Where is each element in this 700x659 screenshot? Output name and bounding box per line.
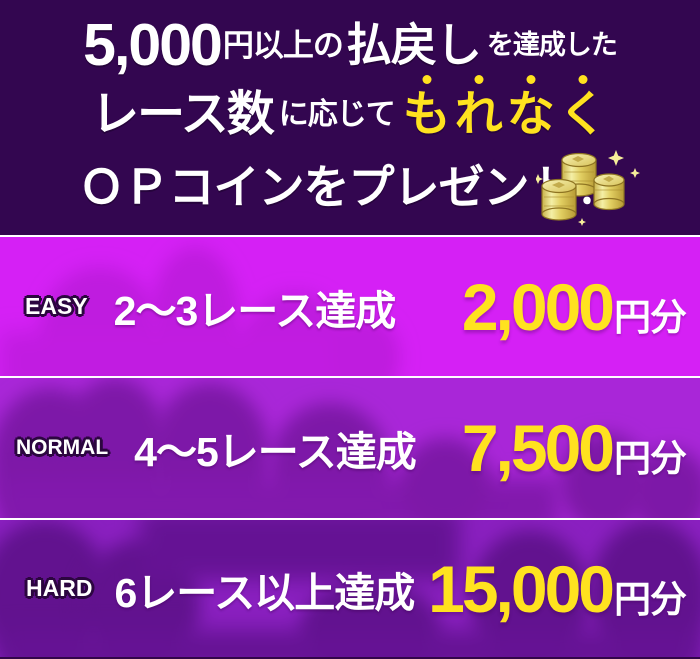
tier-amount-unit-easy: 円分: [612, 297, 686, 338]
tier-amount-value-hard: 15,000: [428, 552, 612, 626]
tier-amount-value-normal: 7,500: [462, 411, 612, 485]
banner-header: 5,000 円以上の 払戻し を達成した レース数 に応じて もれなく ＯＰコイ…: [0, 0, 700, 235]
tier-amount-value-easy: 2,000: [462, 270, 612, 344]
tier-amount-normal: 7,500円分: [416, 415, 700, 481]
emphasis-char: な: [505, 91, 557, 139]
tier-condition-hard: 6レース以上達成: [114, 559, 414, 619]
coin-stacks-svg: [536, 148, 646, 230]
campaign-banner: 5,000 円以上の 払戻し を達成した レース数 に応じて もれなく ＯＰコイ…: [0, 0, 700, 659]
payout-amount-text: 5,000: [83, 16, 221, 75]
tier-row-easy-content: EASY 2〜3レース達成 2,000円分: [0, 237, 700, 376]
tier-amount-unit-hard: 円分: [612, 579, 686, 620]
emphasis-char: れ: [453, 91, 505, 139]
payout-tail-text: を達成した: [484, 32, 617, 59]
header-line-2: レース数 に応じて もれなく: [91, 84, 609, 146]
according-to-text: に応じて: [273, 100, 401, 130]
tier-badge-easy: EASY: [25, 293, 88, 320]
race-count-text: レース数: [91, 91, 273, 139]
tier-condition-easy: 2〜3レース達成: [114, 277, 396, 337]
emphasis-char: も: [401, 91, 453, 139]
gold-coin-stacks-icon: [536, 148, 646, 230]
tier-row-normal-content: NORMAL 4〜5レース達成 7,500円分: [0, 378, 700, 518]
emphasis-char: く: [557, 91, 609, 139]
tier-amount-unit-normal: 円分: [612, 438, 686, 479]
tier-amount-hard: 15,000円分: [414, 556, 700, 622]
tier-badge-normal: NORMAL: [16, 436, 108, 460]
header-line-1: 5,000 円以上の 払戻し を達成した: [83, 12, 617, 78]
tier-row-hard[interactable]: HARD 6レース以上達成 15,000円分: [0, 518, 700, 657]
coin-stack-front: [542, 180, 576, 221]
tier-row-hard-content: HARD 6レース以上達成 15,000円分: [0, 520, 700, 657]
tier-row-normal[interactable]: NORMAL 4〜5レース達成 7,500円分: [0, 376, 700, 518]
tier-row-easy[interactable]: EASY 2〜3レース達成 2,000円分: [0, 235, 700, 376]
tier-amount-easy: 2,000円分: [395, 274, 700, 340]
payout-unit-text: 円以上の: [221, 30, 343, 61]
payout-keyword-text: 払戻し: [343, 22, 484, 68]
tier-badge-hard: HARD: [26, 575, 92, 602]
coin-stack-right: [594, 174, 624, 210]
op-coin-present-text: ＯＰコインをプレゼント: [79, 164, 574, 210]
emphasis-text: もれなく: [401, 91, 609, 139]
tier-condition-normal: 4〜5レース達成: [134, 418, 416, 478]
